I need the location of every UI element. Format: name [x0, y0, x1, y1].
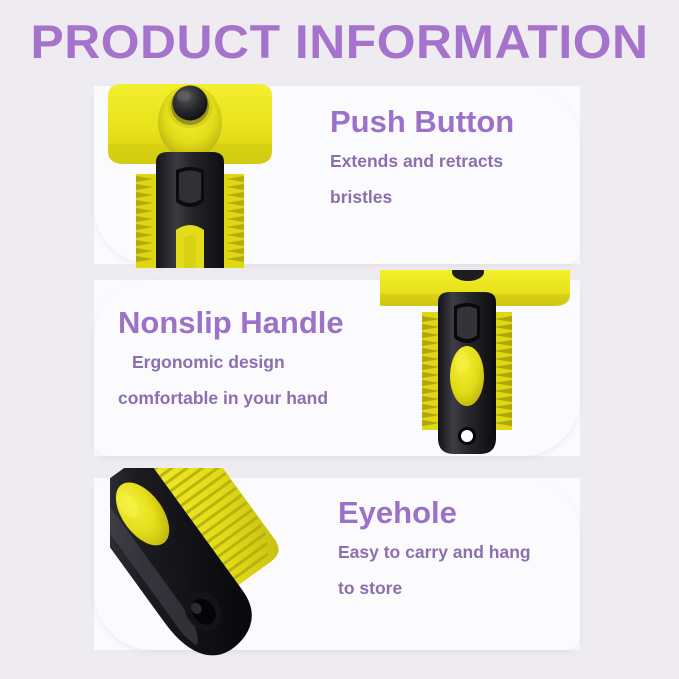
panel-1-heading: Push Button	[330, 104, 514, 140]
panel-2-text-block: Nonslip Handle Ergonomic design comforta…	[118, 305, 344, 408]
product-information-infographic: PRODUCT INFORMATION	[0, 0, 679, 679]
panel-1-text-block: Push Button Extends and retracts bristle…	[330, 104, 514, 207]
panel-3-text-block: Eyehole Easy to carry and hang to store	[338, 495, 531, 598]
panel-1-line-1: Extends and retracts	[330, 152, 514, 171]
panel-3-line-1: Easy to carry and hang	[338, 543, 531, 562]
panel-3-heading: Eyehole	[338, 495, 531, 531]
panel-2-line-2: comfortable in your hand	[118, 389, 344, 408]
panel-1-line-2: bristles	[330, 188, 514, 207]
page-title: PRODUCT INFORMATION	[0, 16, 679, 68]
panel-2-heading: Nonslip Handle	[118, 305, 344, 341]
panel-2-line-1: Ergonomic design	[132, 353, 344, 372]
panel-3-line-2: to store	[338, 579, 531, 598]
